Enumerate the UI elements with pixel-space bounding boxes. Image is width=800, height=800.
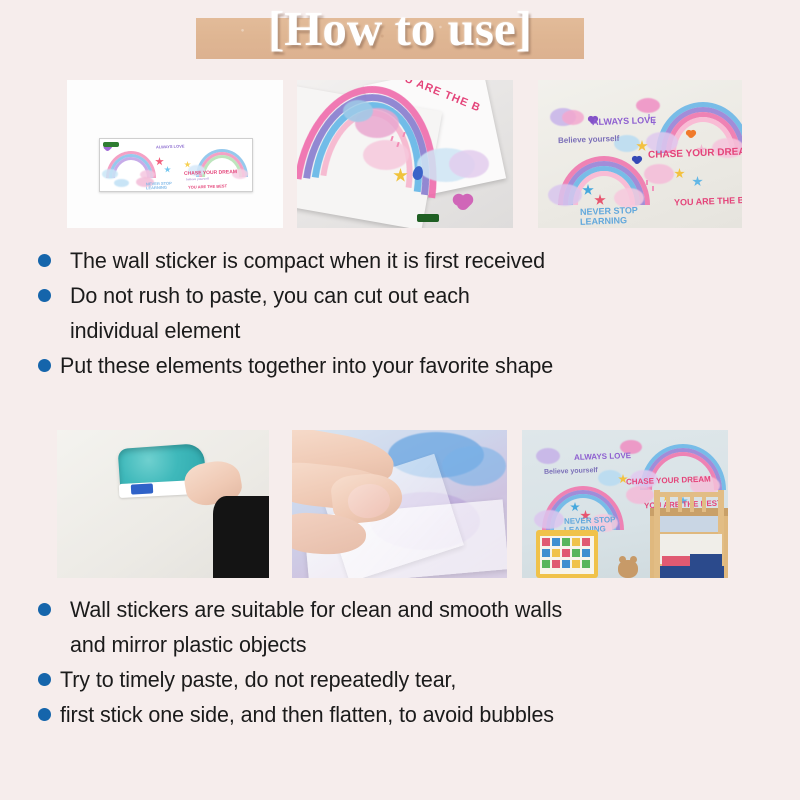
instruction-text: Try to timely paste, do not repeatedly t… xyxy=(60,664,456,696)
list-item-continuation: individual element xyxy=(38,315,764,347)
photo-finished-kids-room: ALWAYS LOVE Believe yourself CHASE YOUR … xyxy=(522,430,728,578)
photo-peel-backing-film xyxy=(292,430,507,578)
photo-wipe-wall-with-towel xyxy=(57,430,269,578)
instruction-text: The wall sticker is compact when it is f… xyxy=(70,245,545,277)
instructions-top: The wall sticker is compact when it is f… xyxy=(38,245,764,385)
list-item: Wall stickers are suitable for clean and… xyxy=(38,594,764,626)
page-title: [How to use] xyxy=(0,0,800,58)
bullet-dot-icon xyxy=(38,359,51,372)
list-item: first stick one side, and then flatten, … xyxy=(38,699,764,731)
list-item: Try to timely paste, do not repeatedly t… xyxy=(38,664,764,696)
list-item-continuation: and mirror plastic objects xyxy=(38,629,764,661)
photo-flat-packed-sticker-sheet: ALWAYS LOVE CHASE YOUR DREAM believe you… xyxy=(67,80,283,228)
photo-cut-out-sticker-elements: OU ARE THE B xyxy=(297,80,513,228)
list-item: The wall sticker is compact when it is f… xyxy=(38,245,764,277)
bullet-dot-icon xyxy=(38,708,51,721)
instruction-text: individual element xyxy=(70,315,240,347)
instruction-text: Wall stickers are suitable for clean and… xyxy=(70,594,562,626)
bullet-dot-icon xyxy=(38,603,51,616)
sticker-sheet-card: ALWAYS LOVE CHASE YOUR DREAM believe you… xyxy=(99,138,253,192)
sleeve xyxy=(213,496,269,578)
instruction-text: and mirror plastic objects xyxy=(70,629,306,661)
bullet-dot-placeholder xyxy=(38,638,51,651)
instruction-text: first stick one side, and then flatten, … xyxy=(60,699,554,731)
instruction-text: Do not rush to paste, you can cut out ea… xyxy=(70,280,470,312)
instruction-text: Put these elements together into your fa… xyxy=(60,350,553,382)
bullet-dot-icon xyxy=(38,673,51,686)
list-item: Put these elements together into your fa… xyxy=(38,350,764,382)
bullet-dot-icon xyxy=(38,254,51,267)
photo-sticker-applied-on-wall: ALWAYS LOVE Believe yourself CHASE YOUR … xyxy=(538,80,742,228)
bullet-dot-icon xyxy=(38,289,51,302)
bullet-dot-placeholder xyxy=(38,324,51,337)
instructions-bottom: Wall stickers are suitable for clean and… xyxy=(38,594,764,734)
list-item: Do not rush to paste, you can cut out ea… xyxy=(38,280,764,312)
